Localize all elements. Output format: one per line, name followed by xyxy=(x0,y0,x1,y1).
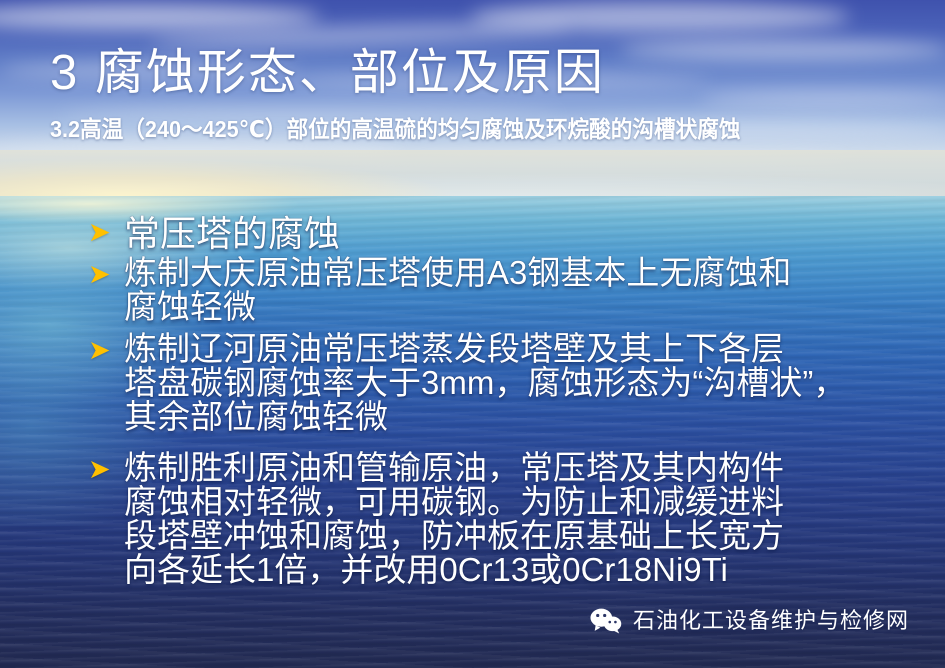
bullet-item: ➤ 常压塔的腐蚀 xyxy=(88,214,340,254)
arrow-bullet-icon: ➤ xyxy=(88,219,124,246)
watermark: 石油化工设备维护与检修网 xyxy=(590,608,909,634)
cloud-shape xyxy=(620,40,945,60)
slide-body: ➤ 常压塔的腐蚀 ➤ 炼制大庆原油常压塔使用A3钢基本上无腐蚀和 腐蚀轻微 ➤ … xyxy=(0,206,945,606)
presentation-slide: 3 腐蚀形态、部位及原因 3.2高温（240～425℃）部位的高温硫的均匀腐蚀及… xyxy=(0,0,945,668)
cloud-shape xyxy=(0,4,320,30)
wechat-icon xyxy=(590,608,622,634)
bullet-text: 炼制大庆原油常压塔使用A3钢基本上无腐蚀和 腐蚀轻微 xyxy=(124,256,791,324)
arrow-bullet-icon: ➤ xyxy=(88,456,124,483)
arrow-bullet-icon: ➤ xyxy=(88,337,124,364)
bullet-text: 炼制胜利原油和管输原油，常压塔及其内构件 腐蚀相对轻微，可用碳钢。为防止和减缓进… xyxy=(124,451,784,587)
bullet-item: ➤ 炼制大庆原油常压塔使用A3钢基本上无腐蚀和 腐蚀轻微 xyxy=(88,256,791,324)
slide-title: 3 腐蚀形态、部位及原因 xyxy=(50,49,605,98)
bullet-item: ➤ 炼制辽河原油常压塔蒸发段塔壁及其上下各层 塔盘碳钢腐蚀率大于3mm，腐蚀形态… xyxy=(88,332,846,434)
bullet-text: 炼制辽河原油常压塔蒸发段塔壁及其上下各层 塔盘碳钢腐蚀率大于3mm，腐蚀形态为“… xyxy=(124,332,846,434)
cloud-shape xyxy=(700,90,945,106)
bullet-item: ➤ 炼制胜利原油和管输原油，常压塔及其内构件 腐蚀相对轻微，可用碳钢。为防止和减… xyxy=(88,451,784,587)
arrow-bullet-icon: ➤ xyxy=(88,261,124,288)
cloud-shape xyxy=(470,2,850,32)
slide-subtitle: 3.2高温（240～425℃）部位的高温硫的均匀腐蚀及环烷酸的沟槽状腐蚀 xyxy=(50,118,741,141)
bullet-text: 常压塔的腐蚀 xyxy=(124,214,340,254)
watermark-text: 石油化工设备维护与检修网 xyxy=(633,610,909,632)
